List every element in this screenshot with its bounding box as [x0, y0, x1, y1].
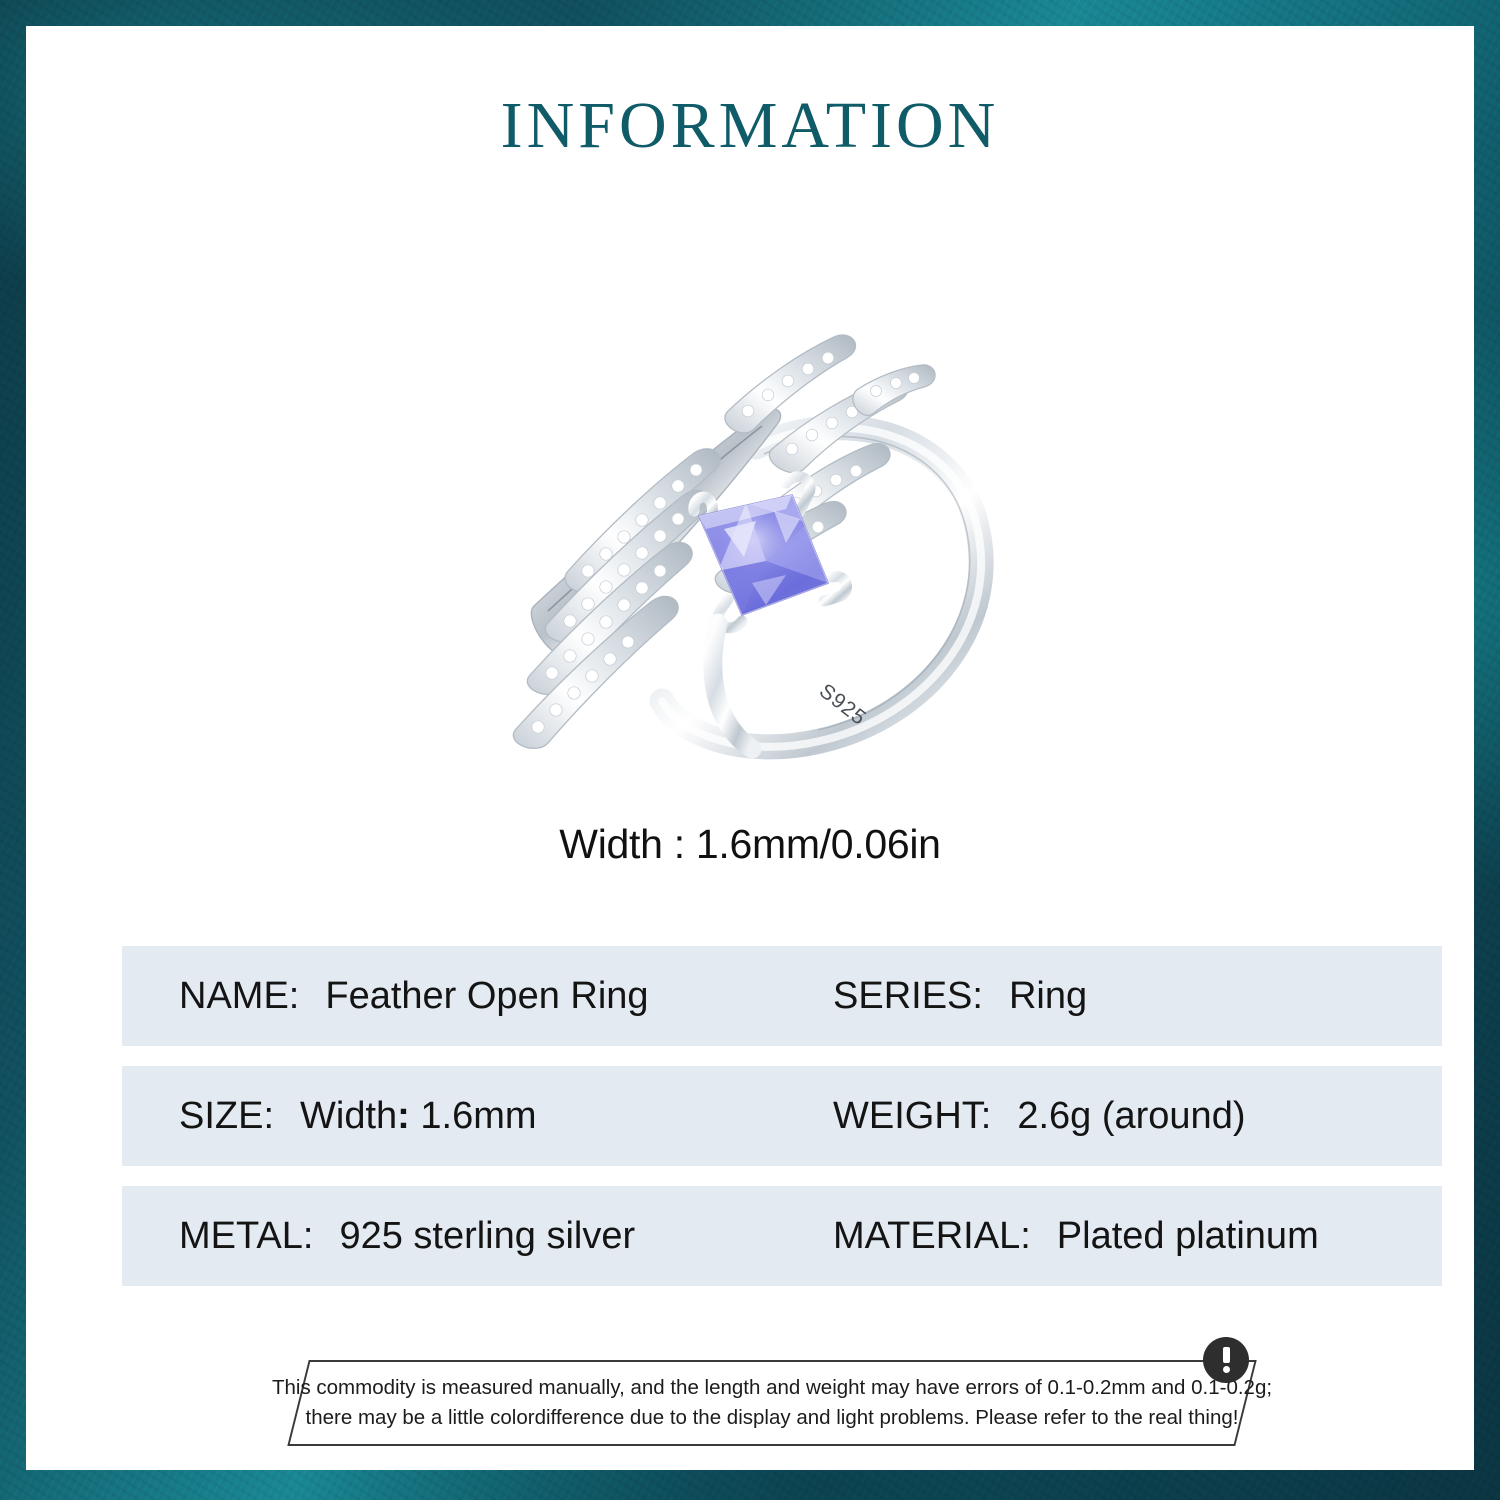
width-caption: Width : 1.6mm/0.06in — [26, 821, 1474, 868]
table-row: SIZE: Width: 1.6mm WEIGHT: 2.6g (around) — [122, 1066, 1442, 1166]
decorative-teal-frame: INFORMATION — [0, 0, 1500, 1500]
spec-value: Feather Open Ring — [325, 975, 648, 1018]
spec-cell-weight: WEIGHT: 2.6g (around) — [817, 1095, 1442, 1138]
spec-value: Plated platinum — [1057, 1215, 1319, 1258]
disclaimer-note: This commodity is measured manually, and… — [298, 1360, 1246, 1446]
spec-value: 2.6g (around) — [1017, 1095, 1245, 1138]
size-value-suffix: 1.6mm — [420, 1095, 536, 1137]
page-title: INFORMATION — [26, 88, 1474, 164]
table-row: METAL: 925 sterling silver MATERIAL: Pla… — [122, 1186, 1442, 1286]
table-row: NAME: Feather Open Ring SERIES: Ring — [122, 946, 1442, 1046]
size-value-prefix: Width — [300, 1095, 397, 1137]
information-card: INFORMATION — [26, 26, 1474, 1470]
product-image-feather-open-ring: S925 — [456, 271, 1076, 811]
spec-cell-name: NAME: Feather Open Ring — [122, 975, 817, 1018]
exclamation-icon — [1203, 1337, 1249, 1383]
spec-cell-material: MATERIAL: Plated platinum — [817, 1215, 1442, 1258]
spec-value: Width: 1.6mm — [300, 1095, 537, 1138]
spec-cell-metal: METAL: 925 sterling silver — [122, 1215, 817, 1258]
specification-table: NAME: Feather Open Ring SERIES: Ring SIZ… — [122, 946, 1442, 1306]
size-value-colon: : — [397, 1095, 410, 1137]
spec-label: SIZE: — [179, 1095, 274, 1138]
spec-label: SERIES: — [833, 975, 983, 1018]
spec-label: NAME: — [179, 975, 299, 1018]
spec-label: WEIGHT: — [833, 1095, 991, 1138]
spec-label: METAL: — [179, 1215, 313, 1258]
spec-cell-series: SERIES: Ring — [817, 975, 1442, 1018]
spec-value: 925 sterling silver — [339, 1215, 635, 1258]
disclaimer-line-2: there may be a little colordifference du… — [306, 1406, 1239, 1430]
spec-cell-size: SIZE: Width: 1.6mm — [122, 1095, 817, 1138]
spec-value: Ring — [1009, 975, 1087, 1018]
disclaimer-text: This commodity is measured manually, and… — [298, 1360, 1246, 1446]
spec-label: MATERIAL: — [833, 1215, 1031, 1258]
disclaimer-line-1: This commodity is measured manually, and… — [272, 1376, 1272, 1400]
